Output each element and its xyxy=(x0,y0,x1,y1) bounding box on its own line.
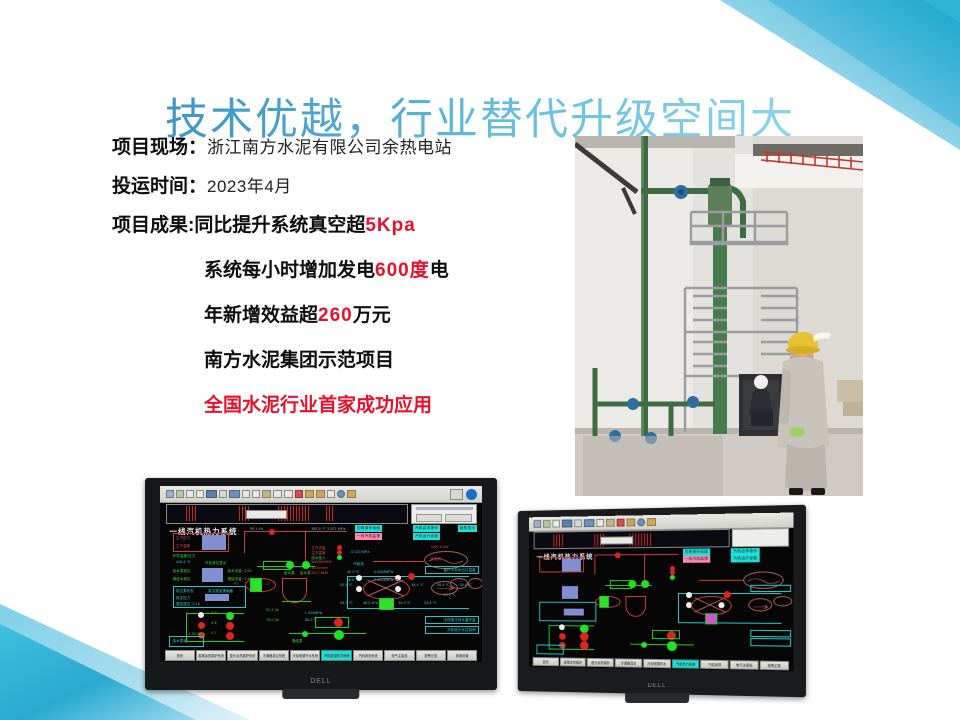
scada-fan-1 xyxy=(450,578,468,589)
scada-tab-0[interactable]: 首页 xyxy=(165,650,195,661)
toolbar-icon-table[interactable] xyxy=(229,490,240,498)
scada-two-tab-8[interactable]: 报警记录 xyxy=(760,661,789,671)
scada-trend-input-two[interactable] xyxy=(601,537,634,546)
toolbar-icon-pencil[interactable] xyxy=(305,490,314,498)
scada-two-level-bar xyxy=(600,596,610,608)
toolbar-icon-page[interactable] xyxy=(186,490,194,498)
scada-tab-1[interactable]: 窑尾余热锅炉系统 xyxy=(196,650,226,661)
toolbar-two-icon-edit[interactable] xyxy=(543,520,551,528)
scada-tab-7[interactable]: 电气主接线 xyxy=(384,650,414,661)
scada-two-valve-w1 xyxy=(559,625,565,631)
toolbar-icon-stop[interactable] xyxy=(295,490,303,498)
toolbar-two-icon-settings[interactable] xyxy=(638,519,646,527)
scada-two-circ-pump xyxy=(749,598,773,611)
scada-button-trend[interactable]: 趋势显示 xyxy=(458,525,478,532)
toolbar-two-icon-pencil[interactable] xyxy=(627,519,636,527)
date-label: 投运时间： xyxy=(112,176,207,197)
scada-tab-bar[interactable]: 首页 窑尾余热锅炉系统 窑头余热锅炉系统 冷凝器真空系统 冷却塔循环水系统 汽机… xyxy=(165,650,478,661)
scada-legend-led-g xyxy=(337,555,342,560)
toolbar-two-icon-print[interactable] xyxy=(606,519,615,527)
monitor-screenshot-two: DELL xyxy=(512,508,802,694)
first-application-text: 全国水泥行业首家成功应用 xyxy=(204,395,432,416)
toolbar-icon-print[interactable] xyxy=(262,490,271,498)
scada-value-feedwater-level xyxy=(202,568,223,575)
toolbar-two-icon-cut[interactable] xyxy=(597,519,605,527)
scada-valve-w1 xyxy=(198,612,204,618)
detail-row-site: 项目现场：浙江南方水泥有限公司余热电站 xyxy=(112,138,582,157)
toolbar-icon-zoom[interactable] xyxy=(327,490,335,498)
toolbar-icon-settings[interactable] xyxy=(337,490,345,498)
scada-two-box-cond xyxy=(652,630,680,640)
scada-two-value-cond xyxy=(562,593,579,599)
scada-two-hx-cross xyxy=(692,596,730,614)
monitor-one-screen: 一线汽机热力系统 切换操作画面 汽机启停操作 趋势显示 一线汽机监视 汽机运行参… xyxy=(160,486,482,662)
scada-tab-5[interactable]: 汽机机组热力系统 xyxy=(321,650,351,661)
scada-two-condenser xyxy=(626,596,646,618)
scada-trend-input[interactable] xyxy=(246,510,286,519)
scada-clock-panel-two xyxy=(731,529,788,548)
scada-two-valve-g4 xyxy=(641,642,647,648)
scada-tab-2[interactable]: 窑头余热锅炉系统 xyxy=(227,650,257,661)
scada-two-tab-6[interactable]: 汽机润滑 xyxy=(701,660,729,670)
monitor-one-brand: DELL xyxy=(310,678,332,685)
result-highlight: 5Kpa xyxy=(365,215,415,236)
scada-value-condensate-level xyxy=(202,575,223,582)
scada-two-legend-g xyxy=(670,575,675,580)
scada-pump-g1 xyxy=(226,612,234,620)
details-block: 项目现场：浙江南方水泥有限公司余热电站 投运时间：2023年4月 项目成果:同比… xyxy=(112,138,582,415)
scada-tab-3[interactable]: 冷凝器真空系统 xyxy=(259,650,289,661)
scada-two-label-cooling-out xyxy=(751,585,792,593)
monitor-one-stand xyxy=(282,689,359,699)
scada-pump-r1 xyxy=(226,622,234,630)
scada-legend-led-r xyxy=(337,545,342,550)
monitor-two-screen: 一线汽机热力系统 切换操作画面 汽机启停操作 一线汽机监视 汽机运行参数 xyxy=(529,513,793,672)
scada-two-pump-g5 xyxy=(668,641,678,651)
scada-tab-6[interactable]: 汽机润滑系统 xyxy=(353,650,383,661)
toolbar-icon-paste[interactable] xyxy=(252,490,260,498)
scada-view-one: 一线汽机热力系统 切换操作画面 汽机启停操作 趋势显示 一线汽机监视 汽机运行参… xyxy=(160,486,482,662)
detail-row-result: 项目成果:同比提升系统真空超5Kpa xyxy=(112,216,582,235)
scada-two-tab-2[interactable]: 窑头余热锅炉 xyxy=(587,658,614,668)
scada-cooling-level xyxy=(379,598,394,610)
detail-row-benefit: 年新增效益超260万元 xyxy=(112,306,582,325)
site-label: 项目现场： xyxy=(112,137,207,158)
scada-led-g3 xyxy=(302,561,310,569)
toolbar-icon-brush[interactable] xyxy=(316,490,325,498)
scada-two-tab-7[interactable]: 电气主接线 xyxy=(730,660,759,670)
scada-button-switch[interactable]: 切换操作画面 xyxy=(355,525,382,532)
toolbar-icon-key[interactable] xyxy=(347,490,356,498)
scada-two-label-tower xyxy=(751,630,792,638)
scada-value-main-steam-temp xyxy=(202,543,227,551)
power-prefix: 系统每小时增加发电 xyxy=(204,260,375,281)
monitor-screenshot-one: DELL xyxy=(145,478,497,690)
scada-pump-r2 xyxy=(226,632,234,640)
scada-two-button-startstop[interactable]: 汽机启停操作 xyxy=(731,548,759,555)
toolbar-icon-open[interactable] xyxy=(166,490,174,498)
scada-tab-9[interactable]: 参数设置 xyxy=(447,650,477,661)
scada-diagram: 一线汽机热力系统 切换操作画面 汽机启停操作 趋势显示 一线汽机监视 汽机运行参… xyxy=(160,523,482,648)
scada-two-led-g3 xyxy=(641,581,649,589)
scada-view-two: 一线汽机热力系统 切换操作画面 汽机启停操作 一线汽机监视 汽机运行参数 xyxy=(529,513,793,672)
toolbar-icon-window[interactable] xyxy=(450,489,463,500)
scada-two-tab-1[interactable]: 窑尾余热锅炉 xyxy=(560,658,586,668)
benefit-suffix: 万元 xyxy=(353,305,391,326)
scada-two-tab-0[interactable]: 首页 xyxy=(533,657,559,666)
toolbar-icon-copy[interactable] xyxy=(196,490,204,498)
scada-button-params[interactable]: 汽机运行参数 xyxy=(413,533,440,540)
scada-led-g2 xyxy=(286,561,294,569)
scada-valve-steam xyxy=(269,529,275,535)
toolbar-two-icon-open[interactable] xyxy=(534,521,541,529)
scada-valve-cw5 xyxy=(408,573,415,580)
scada-value-vacuum xyxy=(205,594,230,601)
scada-valve-r1 xyxy=(198,622,205,629)
scada-two-button-params[interactable]: 汽机运行参数 xyxy=(731,556,759,563)
scada-clock-panel xyxy=(411,504,477,524)
scada-tab-8[interactable]: 报警记录 xyxy=(416,650,446,661)
toolbar-two-icon-page[interactable] xyxy=(553,520,561,528)
scada-two-tab-4[interactable]: 冷却塔循环水 xyxy=(643,659,671,669)
scada-two-button-switch[interactable]: 切换操作画面 xyxy=(683,548,711,555)
date-value: 2023年4月 xyxy=(207,177,292,196)
scada-fan-2 xyxy=(468,578,483,589)
scada-two-valve-r1 xyxy=(559,633,566,640)
scada-box-cond xyxy=(315,617,349,628)
detail-row-first-application: 全国水泥行业首家成功应用 xyxy=(112,396,582,415)
toolbar-icon-cut[interactable] xyxy=(242,490,250,498)
scada-two-button-monitor[interactable]: 一线汽机监视 xyxy=(683,556,711,563)
toolbar-icon-list[interactable] xyxy=(219,490,227,498)
scada-valve-cw2 xyxy=(356,586,362,592)
toolbar-icon-back[interactable] xyxy=(273,490,282,498)
toolbar-icon-forward[interactable] xyxy=(284,490,293,498)
power-suffix: 电 xyxy=(430,260,449,281)
detail-row-power: 系统每小时增加发电600度电 xyxy=(112,261,582,280)
monitor-two-stand xyxy=(625,693,689,703)
result-value: 同比提升系统真空超 xyxy=(194,215,365,236)
toolbar-two-icon-grid[interactable] xyxy=(562,520,572,528)
scada-two-tab-3[interactable]: 冷凝器真空 xyxy=(615,658,642,668)
scada-pump-g5 xyxy=(334,630,344,640)
scada-condenser xyxy=(282,578,307,602)
toolbar-icon-help[interactable] xyxy=(466,489,477,500)
scada-two-value-temp xyxy=(562,565,582,572)
scada-two-valve-steam xyxy=(615,553,621,559)
scada-button-monitor[interactable]: 一线汽机监视 xyxy=(355,533,382,540)
scada-diagram-two: 一线汽机热力系统 切换操作画面 汽机启停操作 一线汽机监视 汽机运行参数 xyxy=(529,546,793,659)
scada-toolbar[interactable] xyxy=(160,486,482,503)
scada-tab-4[interactable]: 冷却塔循环水系统 xyxy=(290,650,320,661)
scada-two-cooling-level xyxy=(705,614,718,625)
slide-root: 技术优越，行业替代升级空间大 项目现场：浙江南方水泥有限公司余热电站 投运时间：… xyxy=(0,0,960,720)
toolbar-two-icon-key[interactable] xyxy=(648,518,657,526)
scada-level-bar xyxy=(250,578,262,591)
toolbar-two-icon-table[interactable] xyxy=(584,520,595,528)
scada-button-startstop[interactable]: 汽机启停操作 xyxy=(413,525,440,532)
site-photo xyxy=(575,136,863,496)
scada-two-pump-label xyxy=(537,645,564,655)
result-label: 项目成果: xyxy=(112,215,194,236)
toolbar-two-icon-list[interactable] xyxy=(575,520,583,528)
scada-two-fan-1 xyxy=(773,596,792,607)
demo-text: 南方水泥集团示范项目 xyxy=(204,350,394,371)
scada-legend-led-r2 xyxy=(337,550,342,555)
toolbar-icon-grid[interactable] xyxy=(206,490,217,498)
scada-valve-g4 xyxy=(302,631,308,637)
scada-trend-strip[interactable] xyxy=(166,504,408,524)
scada-two-value-vac xyxy=(564,609,584,615)
scada-two-tab-5[interactable]: 汽机热力系统 xyxy=(672,659,700,669)
benefit-prefix: 年新增效益超 xyxy=(204,305,318,326)
benefit-highlight: 260 xyxy=(318,305,353,326)
toolbar-icon-edit[interactable] xyxy=(176,490,184,498)
power-highlight: 600度 xyxy=(375,260,430,281)
monitor-two-brand: DELL xyxy=(647,683,666,689)
scada-value-main-steam-press xyxy=(202,535,227,543)
scada-two-label-make xyxy=(751,639,792,647)
site-value: 浙江南方水泥有限公司余热电站 xyxy=(207,138,452,157)
toolbar-two-icon-stop[interactable] xyxy=(617,519,625,527)
detail-row-date: 投运时间：2023年4月 xyxy=(112,177,582,196)
detail-row-demo: 南方水泥集团示范项目 xyxy=(112,351,582,370)
